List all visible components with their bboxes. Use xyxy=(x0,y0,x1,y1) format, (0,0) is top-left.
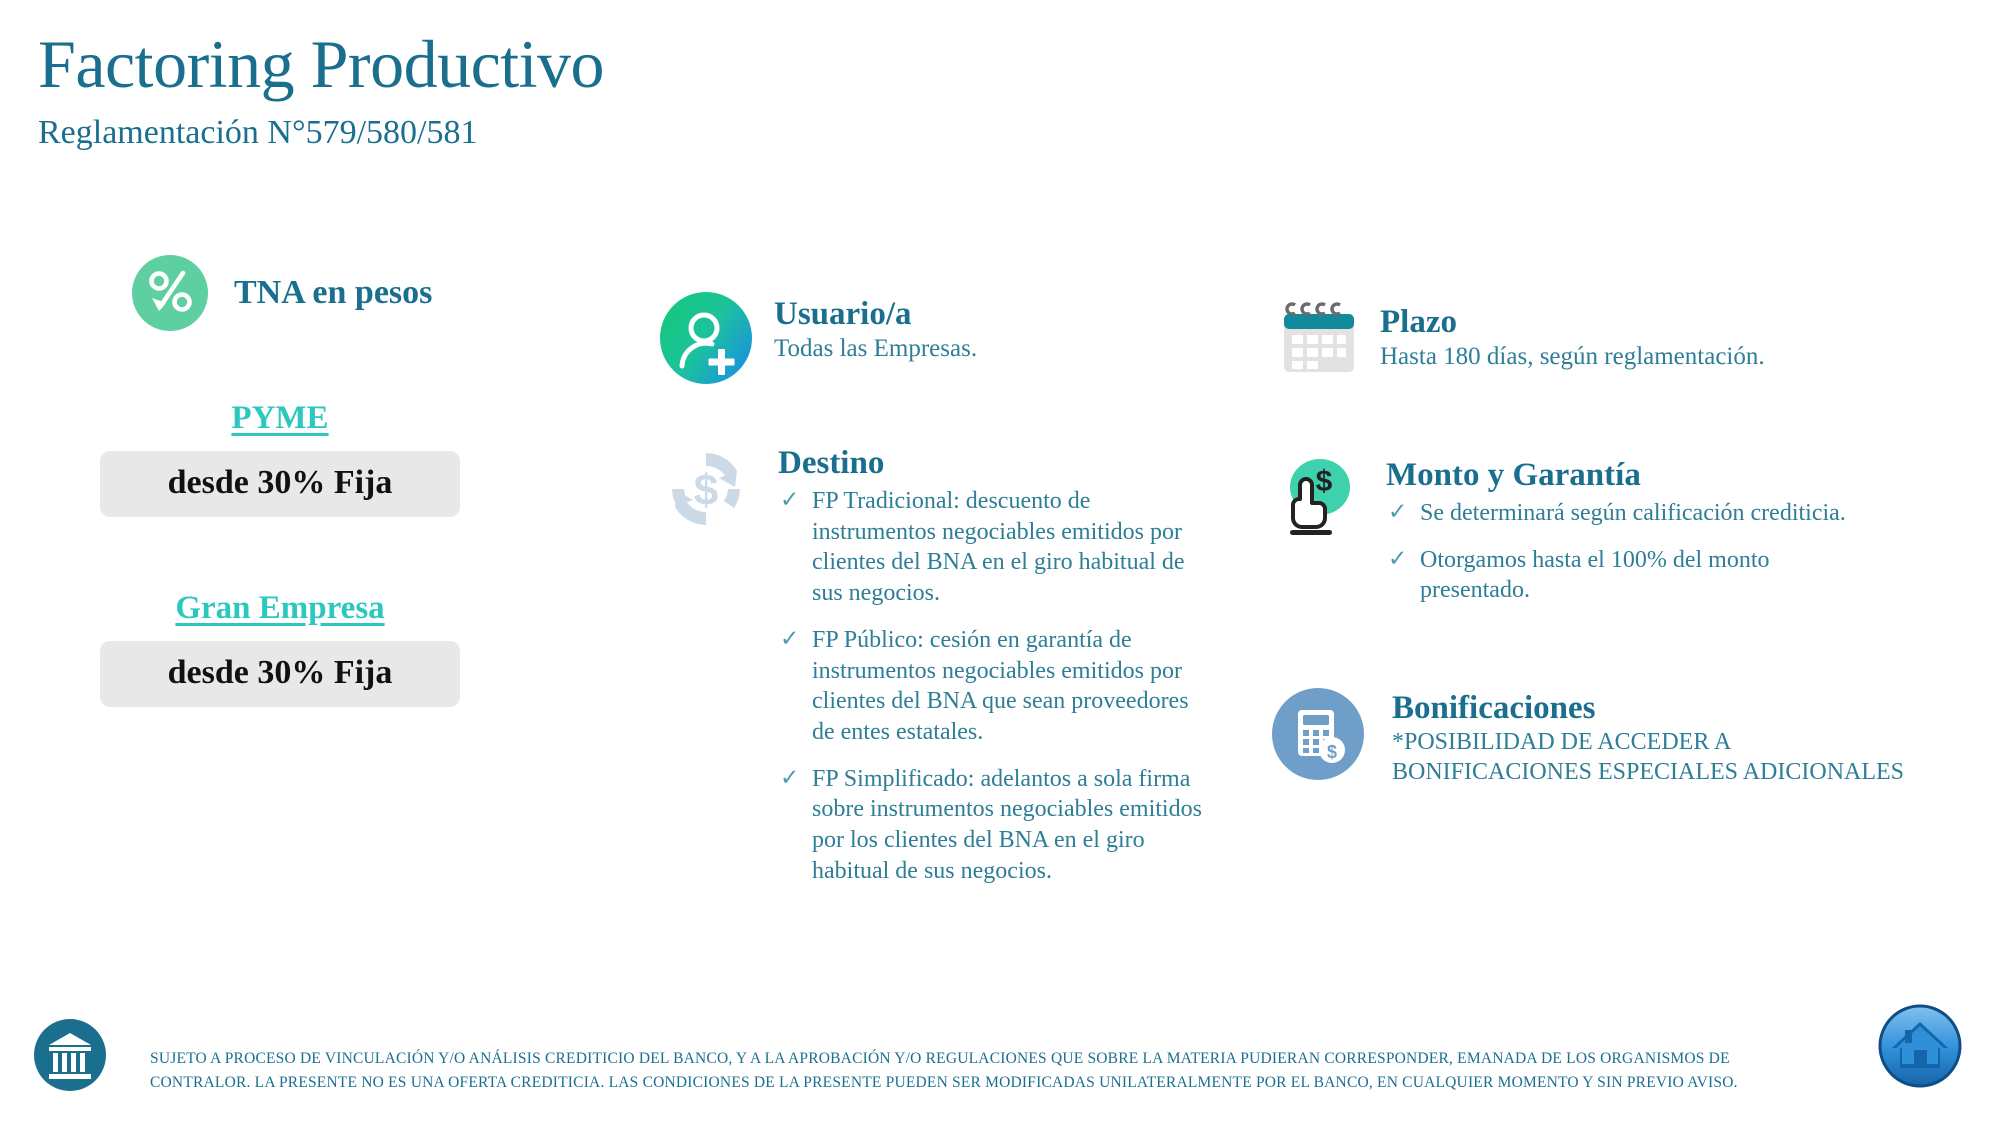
calculator-dollar-icon: $ xyxy=(1272,688,1364,780)
block-plazo: Plazo Hasta 180 días, según reglamentaci… xyxy=(1280,300,1765,378)
hand-dollar-icon: $ xyxy=(1272,455,1358,541)
calendar-icon xyxy=(1280,300,1358,378)
bank-building-icon xyxy=(34,1019,106,1091)
block-usuario: Usuario/a Todas las Empresas. xyxy=(660,292,977,384)
rate-value-gran-empresa: desde 30% Fija xyxy=(100,641,460,707)
usuario-heading: Usuario/a xyxy=(774,296,977,333)
page-header: Factoring Productivo Reglamentación N°57… xyxy=(38,30,604,150)
tna-header: TNA en pesos xyxy=(132,255,432,331)
slide-root: Factoring Productivo Reglamentación N°57… xyxy=(0,0,2000,1125)
list-item-text: Otorgamos hasta el 100% del monto presen… xyxy=(1420,547,1770,604)
block-bonificaciones: $ Bonificaciones *POSIBILIDAD DE ACCEDER… xyxy=(1272,688,1904,787)
page-title: Factoring Productivo xyxy=(38,30,604,98)
usuario-subtext: Todas las Empresas. xyxy=(774,333,977,364)
bonificaciones-line-1: *POSIBILIDAD DE ACCEDER A xyxy=(1392,727,1904,757)
rate-segment-gran-empresa: Gran Empresa desde 30% Fija xyxy=(100,590,460,707)
tna-label: TNA en pesos xyxy=(234,274,432,312)
block-destino: $ Destino ✓ FP Tradicional: descuento de… xyxy=(660,443,1208,887)
home-icon[interactable] xyxy=(1878,1004,1962,1088)
percent-down-icon xyxy=(132,255,208,331)
block-monto-garantia: $ Monto y Garantía ✓ Se determinará segú… xyxy=(1272,455,1856,606)
disclaimer-line-2: CONTRALOR. LA PRESENTE NO ES UNA OFERTA … xyxy=(150,1071,1860,1095)
list-item-text: FP Simplificado: adelantos a sola firma … xyxy=(812,766,1202,884)
list-item: ✓ FP Público: cesión en garantía de inst… xyxy=(778,625,1208,748)
monto-heading: Monto y Garantía xyxy=(1386,457,1856,494)
list-item: ✓ FP Simplificado: adelantos a sola firm… xyxy=(778,764,1208,887)
list-item: ✓ FP Tradicional: descuento de instrumen… xyxy=(778,486,1208,609)
destino-bullet-list: ✓ FP Tradicional: descuento de instrumen… xyxy=(778,486,1208,887)
bonificaciones-line-2: BONIFICACIONES ESPECIALES ADICIONALES xyxy=(1392,757,1904,787)
check-icon: ✓ xyxy=(1388,497,1407,526)
check-icon: ✓ xyxy=(780,624,799,653)
page-subtitle: Reglamentación N°579/580/581 xyxy=(38,116,604,150)
destino-heading: Destino xyxy=(778,445,1208,482)
svg-text:$: $ xyxy=(694,466,718,515)
check-icon: ✓ xyxy=(1388,544,1407,573)
plazo-heading: Plazo xyxy=(1380,304,1765,341)
svg-text:$: $ xyxy=(1316,465,1333,498)
check-icon: ✓ xyxy=(780,763,799,792)
footer-disclaimer: SUJETO A PROCESO DE VINCULACIÓN Y/O ANÁL… xyxy=(150,1047,1860,1094)
list-item-text: FP Tradicional: descuento de instrumento… xyxy=(812,488,1185,606)
check-icon: ✓ xyxy=(780,485,799,514)
rate-value-pyme: desde 30% Fija xyxy=(100,451,460,517)
list-item-text: FP Público: cesión en garantía de instru… xyxy=(812,627,1189,745)
rate-segment-pyme: PYME desde 30% Fija xyxy=(100,400,460,517)
disclaimer-line-1: SUJETO A PROCESO DE VINCULACIÓN Y/O ANÁL… xyxy=(150,1047,1860,1071)
money-cycle-icon: $ xyxy=(660,443,752,535)
segment-link-pyme[interactable]: PYME xyxy=(231,400,328,437)
bonificaciones-heading: Bonificaciones xyxy=(1392,690,1904,727)
svg-text:$: $ xyxy=(1327,742,1337,762)
user-add-icon xyxy=(660,292,752,384)
monto-bullet-list: ✓ Se determinará según calificación cred… xyxy=(1386,498,1856,606)
segment-link-gran-empresa[interactable]: Gran Empresa xyxy=(175,590,384,627)
list-item: ✓ Se determinará según calificación cred… xyxy=(1386,498,1856,529)
list-item: ✓ Otorgamos hasta el 100% del monto pres… xyxy=(1386,545,1856,606)
list-item-text: Se determinará según calificación credit… xyxy=(1420,500,1846,526)
plazo-subtext: Hasta 180 días, según reglamentación. xyxy=(1380,341,1765,372)
